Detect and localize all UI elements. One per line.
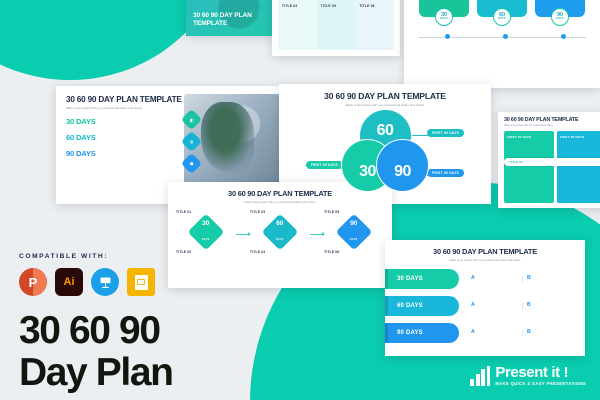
person-icon[interactable]: ☗ [181, 153, 202, 174]
illustrator-icon[interactable]: Ai [55, 268, 83, 296]
venn-pill-30: FIRST 30 DAYS [306, 161, 343, 168]
card-60[interactable]: 60 DAYS [477, 0, 527, 17]
compatible-icon-row: P Ai [19, 268, 155, 296]
diamond-row: TITLE 01 30 DAYS TITLE 02 TITLE 03 60 [176, 210, 384, 256]
banner-col-b: B [527, 329, 575, 337]
venn-pill-90: FIRST 90 DAYS [427, 169, 464, 176]
diamond-unit: DAYS [350, 237, 358, 240]
arrow-column-heading: FIRST 30 DAYS [507, 135, 551, 139]
banner-col-label: A [471, 275, 519, 281]
banner-col-a: A [471, 329, 519, 337]
card-row: 30 DAYS 60 DAYS 90 DAYS [412, 0, 592, 17]
banner-col-label: B [527, 275, 575, 281]
diamond-number: 60 [276, 220, 284, 227]
venn-label-60[interactable]: FIRST 60 DAYS [427, 121, 480, 142]
powerpoint-icon[interactable]: P [19, 268, 47, 296]
diamond-step-30[interactable]: TITLE 01 30 DAYS TITLE 02 [176, 210, 236, 256]
slide-venn-header: 30 60 90 DAY PLAN TEMPLATE Make a big im… [279, 91, 491, 107]
brand-logo[interactable]: Present it ! MAKE QUICK & EASY PRESENTAT… [470, 365, 586, 387]
diamond-shape-60: 60 DAYS [262, 213, 299, 250]
venn-pill-60: FIRST 60 DAYS [427, 129, 464, 136]
keynote-icon[interactable] [91, 268, 119, 296]
banner-col-label: B [527, 302, 575, 308]
step-top-title: TITLE 03 [250, 210, 310, 214]
timeline-axis [412, 33, 592, 43]
table-cell[interactable]: TITLE 05 [317, 0, 356, 50]
banner-row[interactable]: 90 DAYS A B [385, 323, 585, 343]
powerpoint-glyph: P [29, 275, 38, 290]
slide-venn-title: 30 60 90 DAY PLAN TEMPLATE [279, 91, 491, 101]
page-title-line1: 30 60 90 [19, 310, 173, 352]
slide-diamonds-subtitle: Make a big impact with our professional … [176, 200, 384, 204]
badge-unit: DAYS [440, 18, 448, 20]
illustrator-glyph: Ai [64, 276, 75, 288]
brand-tagline: MAKE QUICK & EASY PRESENTATIONS [495, 381, 586, 386]
step-bottom-title: TITLE 06 [324, 250, 384, 254]
slide-banner-subtitle: Make a big impact with our professional … [385, 258, 585, 262]
slides-doc-glyph [135, 275, 148, 290]
arrow-pill-label: TITLE 01 [509, 160, 523, 164]
venn-label-90[interactable]: FIRST 90 DAYS [427, 161, 480, 182]
diamond-step-90[interactable]: TITLE 05 90 DAYS TITLE 06 [324, 210, 384, 256]
google-slides-icon[interactable] [127, 268, 155, 296]
arrow-column-row: FIRST 30 DAYS FIRST 60 DAYS [504, 131, 600, 203]
cell-title: TITLE 05 [321, 4, 352, 8]
diamond-arrow [310, 234, 324, 235]
banner-columns: A B [471, 329, 585, 337]
day-group-label: 60 DAYS [66, 133, 186, 142]
banner-col-a: A [471, 275, 519, 283]
venn-label-30[interactable]: FIRST 30 DAYS [290, 153, 343, 174]
diamond-unit: DAYS [276, 237, 284, 240]
day-group-60[interactable]: 60 DAYS [66, 133, 186, 142]
page-title-line2: Day Plan [19, 352, 173, 394]
banner-tag-60: 60 DAYS [385, 296, 459, 316]
slide-banner-list[interactable]: 30 60 90 DAY PLAN TEMPLATE Make a big im… [385, 240, 585, 356]
card-badge-30: 30 DAYS [435, 8, 453, 26]
arrow-column-heading: FIRST 60 DAYS [560, 135, 600, 139]
badge-unit: DAYS [556, 18, 564, 20]
diamond-shape-30: 30 DAYS [188, 213, 225, 250]
slide-arrows-subtitle: Make a big impact with our professional … [504, 124, 600, 127]
diamond-number: 90 [350, 220, 358, 227]
page-title: 30 60 90 Day Plan [19, 310, 173, 394]
banner-columns: A B [471, 302, 585, 310]
banner-columns: A B [471, 275, 585, 283]
arrow-column-30[interactable]: FIRST 30 DAYS [504, 131, 554, 203]
banner-row[interactable]: 60 DAYS A B [385, 296, 585, 316]
hex-icon-column: ◧ ◎ ☗ [184, 112, 199, 171]
banner-col-a: A [471, 302, 519, 310]
day-group-label: 90 DAYS [66, 149, 186, 158]
day-group-30[interactable]: 30 DAYS [66, 117, 186, 126]
card-30[interactable]: 30 DAYS [419, 0, 469, 17]
banner-col-label: B [527, 329, 575, 335]
diamond-unit: DAYS [202, 237, 210, 240]
step-bottom-title: TITLE 02 [176, 250, 236, 254]
table-grid: TITLE 01 TITLE 02 TITLE 03 TITLE 04 TITL… [278, 0, 394, 50]
diamond-arrow [236, 234, 250, 235]
slide-cover[interactable]: 30 60 90 DAY PLAN TEMPLATE [186, 0, 282, 36]
day-group-label: 30 DAYS [66, 117, 186, 126]
slide-arrow-columns[interactable]: 30 60 90 DAY PLAN TEMPLATE Make a big im… [498, 112, 600, 208]
slide-table[interactable]: TITLE 01 TITLE 02 TITLE 03 TITLE 04 TITL… [272, 0, 400, 56]
card-badge-90: 90 DAYS [551, 8, 569, 26]
table-cell[interactable]: TITLE 06 [355, 0, 394, 50]
step-top-title: TITLE 05 [324, 210, 384, 214]
diamond-number: 30 [202, 220, 210, 227]
slide-banner-title: 30 60 90 DAY PLAN TEMPLATE [385, 247, 585, 256]
cover-title: 30 60 90 DAY PLAN TEMPLATE [193, 12, 282, 28]
banner-tag-90: 90 DAYS [385, 323, 459, 343]
venn-circle-value: 90 [394, 163, 411, 181]
diamond-step-60[interactable]: TITLE 03 60 DAYS TITLE 04 [250, 210, 310, 256]
target-icon[interactable]: ◎ [181, 131, 202, 152]
slide-diamonds-title: 30 60 90 DAY PLAN TEMPLATE [176, 189, 384, 198]
cell-title: TITLE 04 [282, 4, 313, 8]
venn-circle-value: 30 [359, 163, 376, 181]
day-group-90[interactable]: 90 DAYS [66, 149, 186, 158]
venn-circle-value: 60 [377, 122, 394, 140]
banner-col-label: A [471, 302, 519, 308]
compatible-with-label: COMPATIBLE WITH: [19, 253, 108, 260]
chart-icon[interactable]: ◧ [181, 109, 202, 130]
card-badge-60: 60 DAYS [493, 8, 511, 26]
banner-col-b: B [527, 275, 575, 283]
banner-col-label: A [471, 329, 519, 335]
slide-banner-header: 30 60 90 DAY PLAN TEMPLATE Make a big im… [385, 247, 585, 262]
bar-chart-icon [470, 366, 490, 386]
arrow-pill[interactable]: TITLE 01 [504, 158, 600, 166]
badge-unit: DAYS [498, 18, 506, 20]
arrow-column-60[interactable]: FIRST 60 DAYS [557, 131, 600, 203]
slide-diamonds-header: 30 60 90 DAY PLAN TEMPLATE Make a big im… [176, 189, 384, 204]
keynote-podium-glyph [98, 275, 113, 290]
venn-circle-90[interactable]: 90 [376, 139, 429, 192]
cell-title: TITLE 06 [359, 4, 390, 8]
banner-tag-30: 30 DAYS [385, 269, 459, 289]
step-bottom-title: TITLE 04 [250, 250, 310, 254]
poster-canvas: 30 60 90 DAY PLAN TEMPLATE TITLE 01 TITL… [0, 0, 600, 400]
slide-cards[interactable]: 30 60 90 DAY PLAN TEMPLATE Make a big im… [404, 0, 600, 88]
brand-text: Present it ! MAKE QUICK & EASY PRESENTAT… [495, 365, 586, 387]
step-top-title: TITLE 01 [176, 210, 236, 214]
slide-diamond-process[interactable]: 30 60 90 DAY PLAN TEMPLATE Make a big im… [168, 182, 392, 288]
card-90[interactable]: 90 DAYS [535, 0, 585, 17]
banner-col-b: B [527, 302, 575, 310]
slide-venn-subtitle: Make a big impact with our professional … [279, 103, 491, 107]
diamond-shape-90: 90 DAYS [336, 213, 373, 250]
brand-name: Present it ! [495, 365, 586, 380]
table-cell[interactable]: TITLE 04 [278, 0, 317, 50]
banner-row[interactable]: 30 DAYS A B [385, 269, 585, 289]
slide-arrows-title: 30 60 90 DAY PLAN TEMPLATE [504, 117, 600, 123]
